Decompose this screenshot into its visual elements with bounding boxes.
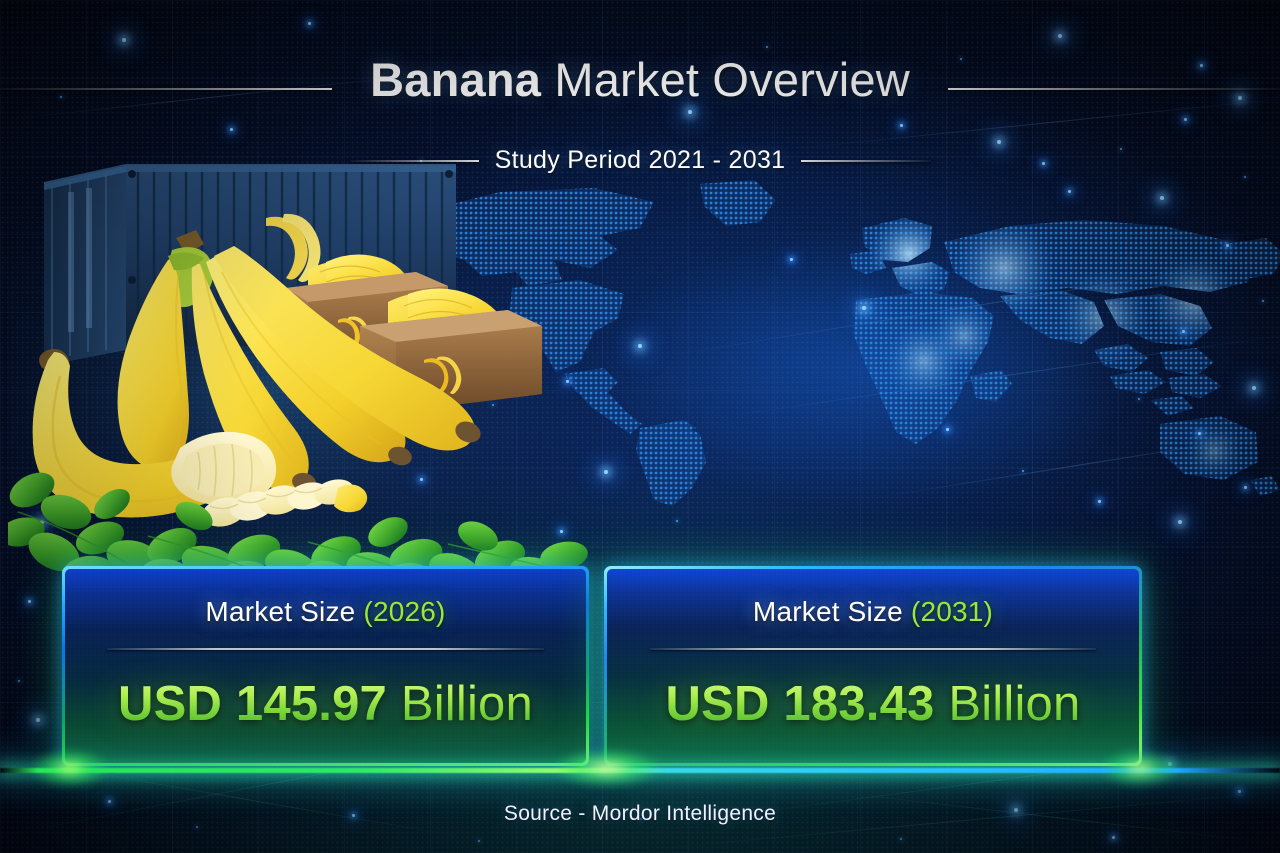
- card-value-unit: Billion: [935, 677, 1081, 731]
- shipping-container: [44, 164, 456, 366]
- market-size-cards: Market Size (2026) USD 145.97 Billion Ma…: [0, 560, 1280, 775]
- card-value-amount: USD 183.43: [666, 677, 935, 731]
- subtitle-row: Study Period 2021 - 2031: [0, 146, 1280, 175]
- card-heading-label: Market Size: [753, 596, 911, 627]
- card-value-amount: USD 145.97: [118, 677, 387, 731]
- study-period: Study Period 2021 - 2031: [495, 146, 786, 175]
- card-divider: [107, 648, 544, 650]
- bananas-illustration: [8, 160, 588, 580]
- banana-logo-glyph: [266, 214, 320, 282]
- card-heading-year: (2026): [363, 596, 445, 627]
- cardboard-box-with-bananas: [286, 254, 542, 412]
- page-title: Banana Market Overview: [0, 55, 1280, 104]
- card-heading-label: Market Size: [205, 596, 363, 627]
- title-bold-word: Banana: [370, 53, 541, 106]
- subtitle-rule-left: [349, 160, 479, 162]
- card-value-2031: USD 183.43 Billion: [666, 676, 1081, 732]
- card-heading-year: (2031): [911, 596, 993, 627]
- market-size-card-2026[interactable]: Market Size (2026) USD 145.97 Billion: [62, 566, 589, 766]
- card-heading-2026: Market Size (2026): [205, 596, 445, 628]
- card-divider: [650, 648, 1097, 650]
- single-banana: [33, 349, 265, 517]
- card-value-unit: Billion: [387, 677, 533, 731]
- market-size-card-2031[interactable]: Market Size (2031) USD 183.43 Billion: [604, 566, 1142, 766]
- dotted-world-map: [404, 176, 1280, 506]
- card-baseline-glow: [0, 768, 1280, 773]
- card-heading-2031: Market Size (2031): [753, 596, 993, 628]
- card-value-2026: USD 145.97 Billion: [118, 676, 533, 732]
- peeled-banana-slices: [171, 432, 367, 531]
- infographic-canvas: Banana Market Overview Study Period 2021…: [0, 0, 1280, 853]
- source-label: Source - Mordor Intelligence: [0, 802, 1280, 826]
- world-map-glow: [600, 230, 1140, 510]
- subtitle-rule-right: [801, 160, 931, 162]
- banana-bunch: [118, 230, 484, 493]
- title-rest: Market Overview: [541, 53, 910, 106]
